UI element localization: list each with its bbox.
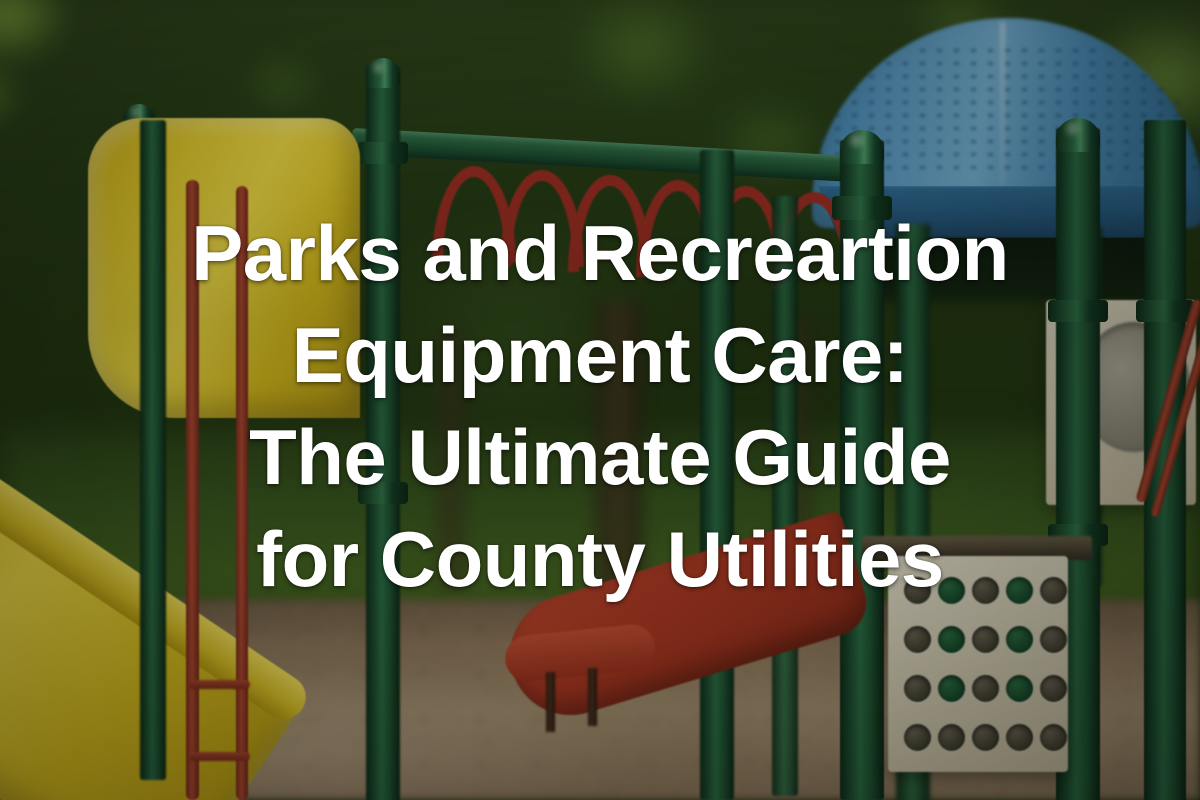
panel-hole [1006, 626, 1033, 653]
headline-line-2: Equipment Care: [0, 304, 1200, 406]
panel-hole [972, 675, 999, 702]
ladder-rung [188, 752, 250, 761]
panel-hole [1006, 675, 1033, 702]
panel-hole [1040, 724, 1067, 751]
post-collar [358, 142, 408, 164]
post-cap [366, 58, 400, 88]
panel-hole [972, 724, 999, 751]
panel-hole [904, 675, 931, 702]
headline-line-1: Parks and Recreartion [0, 202, 1200, 304]
panel-hole [1040, 675, 1067, 702]
panel-hole [904, 724, 931, 751]
slide-leg [546, 672, 555, 732]
post-cap [1056, 118, 1100, 152]
ladder-rung [188, 680, 250, 689]
panel-hole [904, 626, 931, 653]
panel-hole [938, 675, 965, 702]
canopy-ridge-highlight [1000, 22, 1005, 190]
headline-line-3: The Ultimate Guide [0, 406, 1200, 508]
panel-hole [972, 626, 999, 653]
panel-hole [938, 626, 965, 653]
page-title: Parks and Recreartion Equipment Care: Th… [0, 202, 1200, 610]
hero-banner: Parks and Recreartion Equipment Care: Th… [0, 0, 1200, 800]
slide-leg [588, 668, 597, 726]
panel-hole [938, 724, 965, 751]
panel-hole [1006, 724, 1033, 751]
post-cap [840, 130, 884, 164]
headline-line-4: for County Utilities [0, 508, 1200, 610]
panel-hole [1040, 626, 1067, 653]
